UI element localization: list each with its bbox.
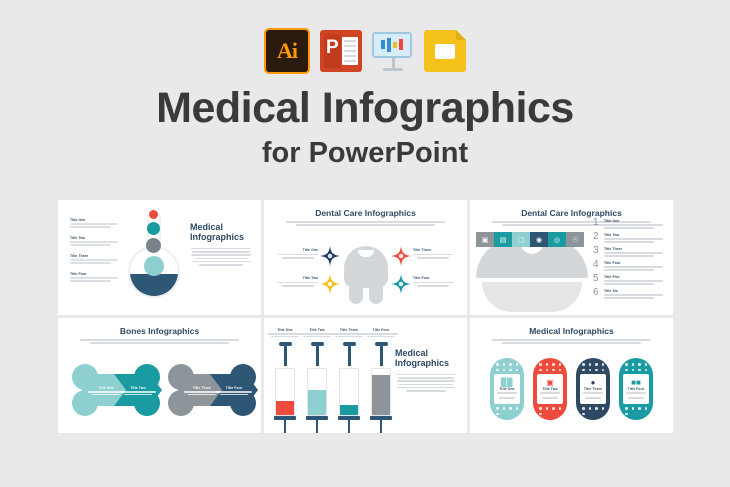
item-title: Title Two <box>604 233 665 237</box>
icon-box-6[interactable]: ☉ <box>566 232 584 247</box>
item-title: Title Three <box>604 247 665 251</box>
bandage-three[interactable]: ● Title Three <box>576 358 610 420</box>
item-body <box>70 223 118 228</box>
item-title: Title One <box>278 248 318 252</box>
item-title: Title One <box>499 387 514 391</box>
card-subtitle <box>80 339 238 344</box>
bones-graphic: Title One Title Two <box>72 364 248 416</box>
item-title: Title Four <box>628 387 644 391</box>
icon-box-2[interactable]: ▤ <box>494 232 512 247</box>
flask-dot-gray <box>146 238 161 253</box>
flask-item-list: Title One Title Two Title Three Title Fo… <box>70 218 118 290</box>
card-title: Dental Care Infographics <box>264 208 467 218</box>
slide-card-syringes[interactable]: Title One Title Two Title Three <box>264 318 467 433</box>
item-body <box>70 259 118 264</box>
keynote-screen <box>372 32 412 58</box>
item-title: Title Two <box>70 236 118 240</box>
bandage-group: ▉▉ Title One ▣ Title Two ● T <box>470 358 673 420</box>
item-title: Title Five <box>604 275 665 279</box>
powerpoint-sheet <box>342 37 358 65</box>
piggy-bank-icon: ▣ <box>546 378 554 387</box>
bandage-two[interactable]: ▣ Title Two <box>533 358 567 420</box>
star-badge-yellow[interactable] <box>320 274 340 294</box>
star-badge-teal[interactable] <box>391 274 411 294</box>
flask-heading-block: Medical Infographics <box>190 222 252 267</box>
bandage-window: ▣ Title Two <box>537 374 563 404</box>
list-item: Title One <box>70 218 118 228</box>
card-subtitle <box>286 221 444 226</box>
list-item: Title Four <box>70 272 118 282</box>
item-title: Title One <box>70 218 118 222</box>
item-title: Title Four <box>413 276 453 280</box>
list-item: 1 Title One <box>593 218 665 230</box>
bandage-window: ■■ Title Four <box>623 374 649 404</box>
slide-card-bones[interactable]: Bones Infographics Title One <box>58 318 261 433</box>
item-body <box>70 241 118 246</box>
keynote-stand <box>392 58 395 68</box>
slides-inner-box <box>435 44 455 59</box>
syringe-three[interactable]: Title Three <box>338 342 360 433</box>
item-title: Title Two <box>542 387 557 391</box>
flask-dot-light-teal <box>144 256 164 276</box>
bone-segment-four[interactable]: Title Four <box>210 364 261 416</box>
card-title: Medical Infographics <box>470 326 673 336</box>
list-item: 4 Title Four <box>593 260 665 272</box>
heading-line-1: Medical <box>395 348 457 358</box>
flask-dot-teal <box>147 222 160 235</box>
icon-box-1[interactable]: ▣ <box>476 232 494 247</box>
item-title: Title Four <box>362 328 400 332</box>
powerpoint-icon[interactable]: P <box>320 30 362 72</box>
item-number: 2 <box>593 232 604 242</box>
money-bag-icon: ● <box>591 378 596 387</box>
keynote-icon[interactable] <box>372 30 414 72</box>
title-block: Medical Infographics for PowerPoint <box>0 86 730 170</box>
bandage-one[interactable]: ▉▉ Title One <box>490 358 524 420</box>
illustrator-letters: Ai <box>277 38 297 64</box>
bandage-four[interactable]: ■■ Title Four <box>619 358 653 420</box>
item-title: Title Three <box>70 254 118 258</box>
card-title: Bones Infographics <box>58 326 261 336</box>
tooth-label-one: Title One <box>278 248 318 260</box>
app-icons-row: Ai P <box>0 28 730 74</box>
slide-card-dental-tooth[interactable]: Dental Care Infographics Title One Title… <box>264 200 467 315</box>
slide-card-bandages[interactable]: Medical Infographics ▉▉ Title One ▣ Titl… <box>470 318 673 433</box>
tooth-icon <box>344 246 388 304</box>
slide-card-dental-mouth[interactable]: Dental Care Infographics ▣ ▤ ▢ ◉ ◎ ☉ 1 T… <box>470 200 673 315</box>
item-body <box>70 277 118 282</box>
card-title: Dental Care Infographics <box>470 208 673 218</box>
item-title: Title Three <box>584 387 602 391</box>
syringe-four[interactable]: Title Four <box>370 342 392 433</box>
list-item: Title Three <box>70 254 118 264</box>
item-number: 1 <box>593 218 604 228</box>
numbered-list: 1 Title One 2 Title Two 3 Title Three 4 … <box>593 218 665 302</box>
item-number: 5 <box>593 274 604 284</box>
flask-liquid <box>130 274 178 296</box>
item-title: Title Three <box>413 248 453 252</box>
heading-line-2: Infographics <box>395 358 457 368</box>
list-item: 6 Title Six <box>593 288 665 300</box>
item-title: Title One <box>604 219 665 223</box>
slides-corner-fold <box>456 30 466 40</box>
star-badge-navy[interactable] <box>320 246 340 266</box>
powerpoint-letter: P <box>326 38 339 57</box>
google-slides-icon[interactable] <box>424 30 466 72</box>
item-title: Title Six <box>604 289 665 293</box>
flask-graphic <box>124 208 184 308</box>
item-title: Title Four <box>70 272 118 276</box>
slide-preview-grid: Title One Title Two Title Three Title Fo… <box>58 200 673 433</box>
card-icon: ■■ <box>631 378 641 387</box>
icon-box-4[interactable]: ◉ <box>530 232 548 247</box>
mouth-graphic <box>476 238 588 310</box>
tooth-label-three: Title Three <box>413 248 453 260</box>
syringe-heading-block: Medical Infographics <box>395 348 457 393</box>
tooth-label-two: Title Two <box>278 276 318 288</box>
syringe-label: Title Four <box>362 328 400 338</box>
icon-box-3[interactable]: ▢ <box>512 232 530 247</box>
item-number: 3 <box>593 246 604 256</box>
slide-card-flask[interactable]: Title One Title Two Title Three Title Fo… <box>58 200 261 315</box>
card-subtitle <box>492 339 650 344</box>
list-item: 2 Title Two <box>593 232 665 244</box>
item-title: Title Two <box>278 276 318 280</box>
tooth-label-four: Title Four <box>413 276 453 288</box>
star-badge-red[interactable] <box>391 246 411 266</box>
flask-dot-red <box>149 210 158 219</box>
adobe-illustrator-icon[interactable]: Ai <box>264 28 310 74</box>
page-title: Medical Infographics <box>0 86 730 131</box>
syringe-one[interactable]: Title One <box>274 342 296 433</box>
page-subtitle: for PowerPoint <box>0 137 730 170</box>
mouth-icon-boxes: ▣ ▤ ▢ ◉ ◎ ☉ <box>476 232 584 247</box>
keynote-base <box>383 68 403 71</box>
item-title: Title Two <box>118 386 158 390</box>
syringe-two[interactable]: Title Two <box>306 342 328 433</box>
bandage-window: ▉▉ Title One <box>494 374 520 404</box>
item-title: Title Four <box>214 386 254 390</box>
heading-line-2: Infographics <box>190 232 252 242</box>
heading-body <box>190 248 252 266</box>
chart-icon: ▉▉ <box>501 378 513 387</box>
heading-line-1: Medical <box>190 222 252 232</box>
list-item: 5 Title Five <box>593 274 665 286</box>
list-item: 3 Title Three <box>593 246 665 258</box>
icon-box-5[interactable]: ◎ <box>548 232 566 247</box>
item-title: Title Four <box>604 261 665 265</box>
list-item: Title Two <box>70 236 118 246</box>
item-number: 6 <box>593 288 604 298</box>
syringe-group: Title One Title Two Title Three <box>274 342 392 433</box>
heading-body <box>395 374 457 392</box>
item-number: 4 <box>593 260 604 270</box>
bandage-window: ● Title Three <box>580 374 606 404</box>
